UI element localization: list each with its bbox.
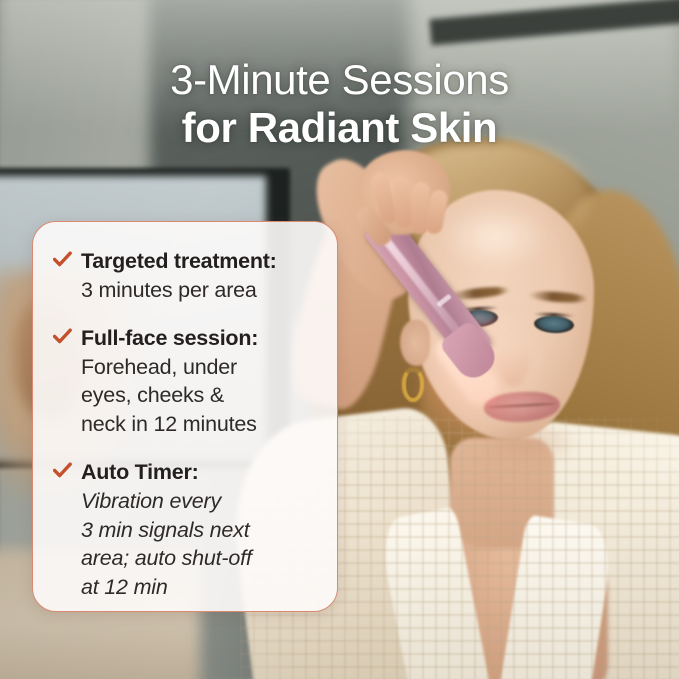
feature-body: Vibration every 3 min signals next area;…	[81, 487, 319, 601]
feature-title: Auto Timer:	[81, 459, 319, 487]
check-icon	[53, 462, 72, 488]
headline-line-1: 3-Minute Sessions	[0, 58, 679, 103]
headline: 3-Minute Sessions for Radiant Skin	[0, 58, 679, 150]
feature-title: Targeted treatment:	[81, 248, 319, 276]
feature-body: Forehead, under eyes, cheeks & neck in 1…	[81, 353, 319, 439]
feature-bullet: Targeted treatment: 3 minutes per area	[53, 248, 319, 304]
feature-title: Full-face session:	[81, 325, 319, 353]
feature-bullet: Full-face session: Forehead, under eyes,…	[53, 325, 319, 438]
forehead-highlight	[440, 202, 550, 272]
feature-text: Auto Timer: Vibration every 3 min signal…	[81, 459, 319, 601]
promo-image-root: 3-Minute Sessions for Radiant Skin Targe…	[0, 0, 679, 679]
feature-text: Targeted treatment: 3 minutes per area	[81, 248, 319, 304]
feature-text: Full-face session: Forehead, under eyes,…	[81, 325, 319, 438]
feature-bullet: Auto Timer: Vibration every 3 min signal…	[53, 459, 319, 601]
check-icon	[53, 328, 72, 354]
headline-line-2: for Radiant Skin	[0, 106, 679, 151]
model-figure	[300, 120, 679, 679]
feature-card: Targeted treatment: 3 minutes per area F…	[32, 221, 338, 612]
feature-body: 3 minutes per area	[81, 276, 319, 305]
check-icon	[53, 251, 72, 277]
